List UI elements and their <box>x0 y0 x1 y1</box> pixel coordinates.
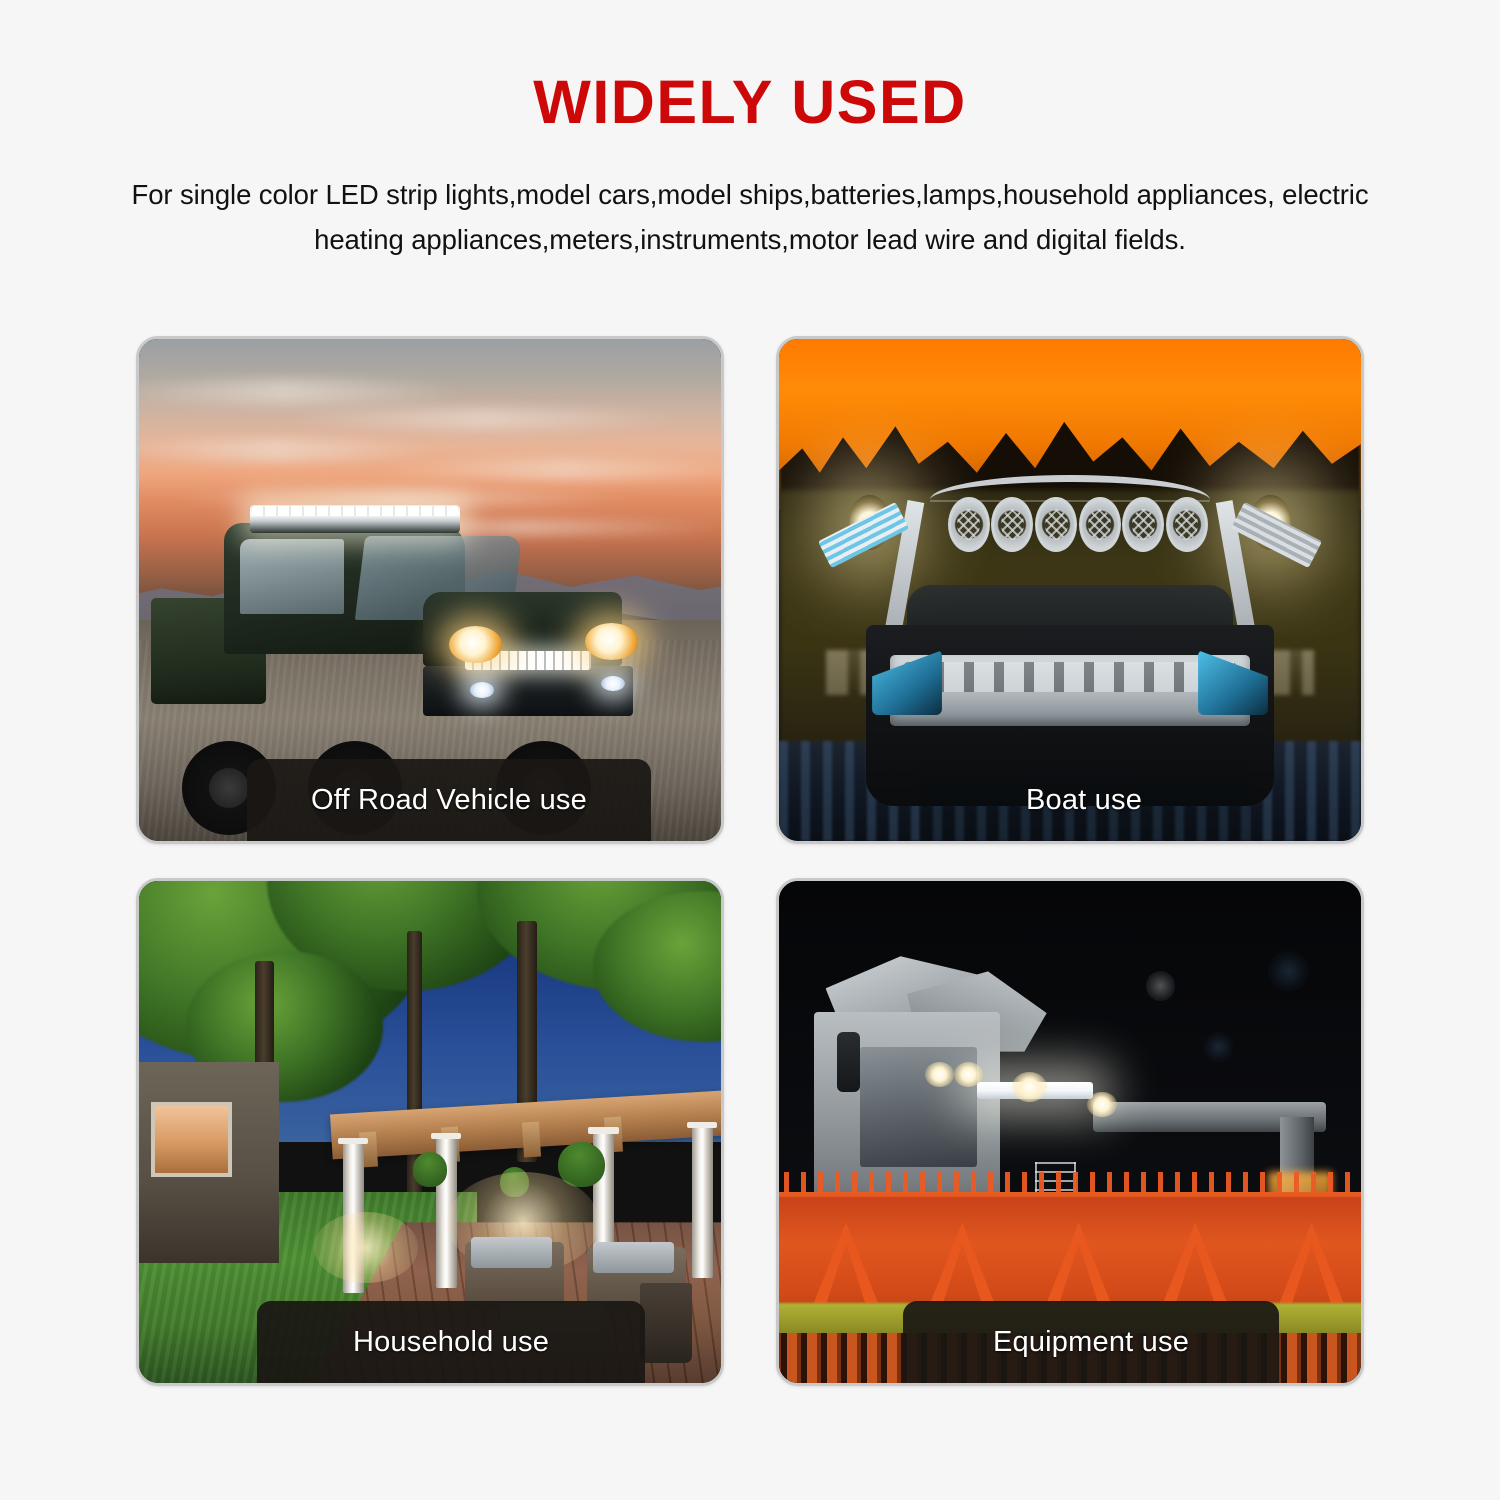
work-lamp-4 <box>1087 1092 1116 1117</box>
panel-caption-equipment: Equipment use <box>903 1301 1279 1383</box>
header: WIDELY USED For single color LED strip l… <box>0 0 1500 262</box>
panel-caption-household: Household use <box>257 1301 645 1383</box>
caption-text: Household use <box>353 1326 549 1359</box>
panel-caption-off-road-vehicle: Off Road Vehicle use <box>247 759 651 841</box>
work-lamp-3 <box>1012 1072 1047 1102</box>
use-case-panel-household[interactable]: Household use <box>136 878 724 1386</box>
caption-text: Boat use <box>1026 784 1142 817</box>
panel-caption-boat: Boat use <box>919 759 1249 841</box>
headlight-left <box>449 626 501 663</box>
house-window-lit <box>151 1102 232 1177</box>
page-root: WIDELY USED For single color LED strip l… <box>0 0 1500 1500</box>
use-case-panel-boat[interactable]: Boat use <box>776 336 1364 844</box>
use-case-panel-equipment[interactable]: Equipment use <box>776 878 1364 1386</box>
roof-led-light-bar <box>250 505 460 533</box>
work-lamp-1 <box>925 1062 954 1087</box>
caption-text: Off Road Vehicle use <box>311 784 587 817</box>
fog-lamp-left <box>470 682 494 698</box>
work-lamp-2 <box>954 1062 983 1087</box>
caption-text: Equipment use <box>993 1326 1189 1359</box>
page-description: For single color LED strip lights,model … <box>105 173 1395 262</box>
fog-lamp-right <box>601 676 625 692</box>
path-light-glow <box>314 1212 419 1282</box>
use-case-panel-off-road-vehicle[interactable]: Off Road Vehicle use <box>136 336 724 844</box>
use-case-grid: Off Road Vehicle use <box>136 336 1364 1386</box>
page-title: WIDELY USED <box>0 72 1500 133</box>
headlight-right <box>585 623 637 660</box>
